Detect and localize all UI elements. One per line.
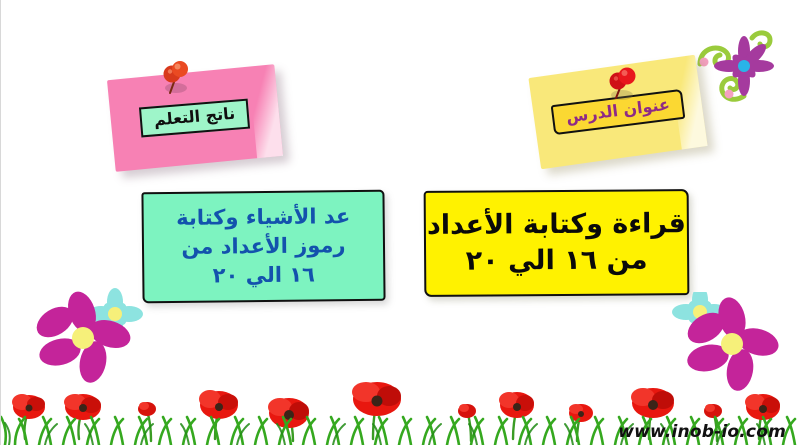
- outcome-line-1: عد الأشياء وكتابة: [176, 202, 350, 233]
- pushpin-icon: [606, 64, 640, 104]
- pushpin-icon: [159, 58, 193, 98]
- outcome-line-2: رموز الأعداد من: [181, 231, 345, 262]
- title-line-2: من ١٦ الي ٢٠: [466, 242, 648, 279]
- learning-outcome-note[interactable]: ناتج التعلم: [107, 64, 283, 172]
- outcome-line-3: ١٦ الي ٢٠: [213, 260, 316, 290]
- title-box: قراءة وكتابة الأعداد من ١٦ الي ٢٠: [424, 189, 690, 297]
- site-watermark: www.inob-io.com: [618, 422, 786, 442]
- slide-canvas: ناتج التعلم عنوان الدرس عد الأشياء وكتاب…: [0, 0, 798, 445]
- title-line-1: قراءة وكتابة الأعداد: [427, 206, 686, 244]
- outcome-box: عد الأشياء وكتابة رموز الأعداد من ١٦ الي…: [141, 190, 385, 304]
